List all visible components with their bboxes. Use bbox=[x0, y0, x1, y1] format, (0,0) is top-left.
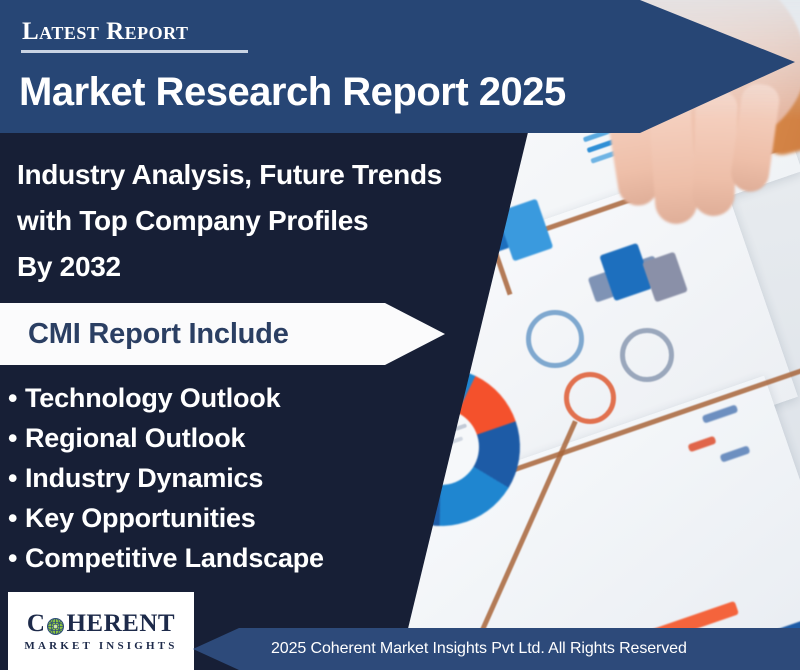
list-item-label: Competitive Landscape bbox=[25, 543, 324, 574]
cmi-report-ribbon: CMI Report Include bbox=[0, 303, 445, 365]
globe-grid-icon bbox=[46, 616, 65, 635]
company-logo: C HERENT MARKET INSIGHTS bbox=[8, 592, 194, 670]
logo-letter-c: C bbox=[27, 611, 46, 636]
bullet-icon: • bbox=[8, 425, 25, 452]
subtitle-line-1: Industry Analysis, Future Trends bbox=[17, 152, 537, 198]
subtitle-block: Industry Analysis, Future Trends with To… bbox=[17, 152, 537, 290]
list-item: • Competitive Landscape bbox=[8, 543, 438, 583]
bullet-icon: • bbox=[8, 385, 25, 412]
logo-tagline: MARKET INSIGHTS bbox=[24, 641, 177, 652]
copyright-text: 2025 Coherent Market Insights Pvt Ltd. A… bbox=[271, 640, 687, 658]
bullet-icon: • bbox=[8, 545, 25, 572]
ribbon-label: CMI Report Include bbox=[28, 318, 289, 351]
subtitle-line-2: with Top Company Profiles bbox=[17, 198, 537, 244]
list-item: • Key Opportunities bbox=[8, 503, 438, 543]
kicker-label: Latest Report bbox=[22, 18, 189, 46]
list-item: • Technology Outlook bbox=[8, 383, 438, 423]
report-include-list: • Technology Outlook • Regional Outlook … bbox=[8, 383, 438, 583]
footer-bar: 2025 Coherent Market Insights Pvt Ltd. A… bbox=[193, 628, 800, 670]
report-banner: Latest Report Market Research Report 202… bbox=[0, 0, 800, 670]
list-item-label: Key Opportunities bbox=[25, 503, 256, 534]
gauge-circle bbox=[526, 310, 584, 368]
subtitle-line-3: By 2032 bbox=[17, 244, 537, 290]
bullet-icon: • bbox=[8, 465, 25, 492]
list-item-label: Industry Dynamics bbox=[25, 463, 263, 494]
list-item: • Industry Dynamics bbox=[8, 463, 438, 503]
page-title: Market Research Report 2025 bbox=[19, 70, 566, 115]
gauge-circle bbox=[564, 372, 616, 424]
list-item: • Regional Outlook bbox=[8, 423, 438, 463]
logo-wordmark: C HERENT bbox=[27, 611, 175, 636]
bullet-icon: • bbox=[8, 505, 25, 532]
list-item-label: Technology Outlook bbox=[25, 383, 280, 414]
gauge-circle bbox=[620, 328, 674, 382]
list-item-label: Regional Outlook bbox=[25, 423, 245, 454]
kicker-underline bbox=[21, 50, 248, 53]
logo-letters-herent: HERENT bbox=[66, 611, 175, 636]
